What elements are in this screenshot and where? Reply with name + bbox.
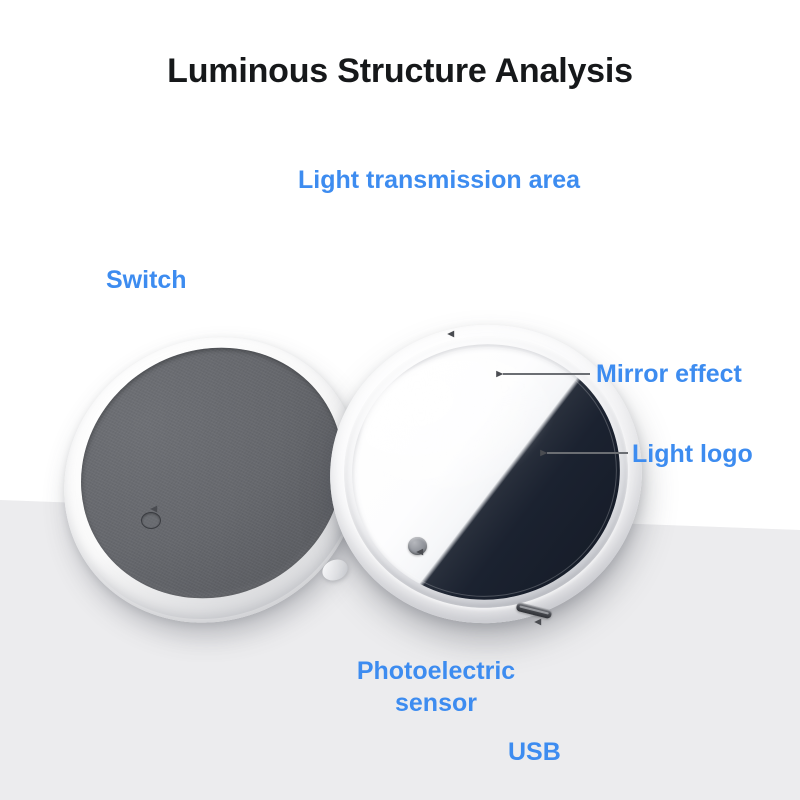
callout-label-switch: Switch xyxy=(106,264,187,296)
callout-label-light-logo: Light logo xyxy=(632,438,753,470)
callout-label-photoelectric-sensor: Photoelectric sensor xyxy=(338,655,534,719)
switch-button[interactable] xyxy=(141,512,161,529)
page-title: Luminous Structure Analysis xyxy=(0,52,800,91)
back-disc-pad xyxy=(52,314,373,633)
photoelectric-sensor-dot[interactable] xyxy=(408,537,427,555)
callout-label-mirror-effect: Mirror effect xyxy=(596,358,742,390)
callout-label-light-transmission: Light transmission area xyxy=(298,164,580,196)
mirror-glass xyxy=(336,327,637,617)
back-disc xyxy=(62,330,362,630)
infographic-canvas: Luminous Structure Analysis xyxy=(0,0,800,800)
back-disc-pad-texture xyxy=(52,314,373,633)
callout-label-usb: USB xyxy=(508,736,561,768)
callout-label-photoelectric-line2: sensor xyxy=(338,687,534,719)
callout-label-photoelectric-line1: Photoelectric xyxy=(338,655,534,687)
